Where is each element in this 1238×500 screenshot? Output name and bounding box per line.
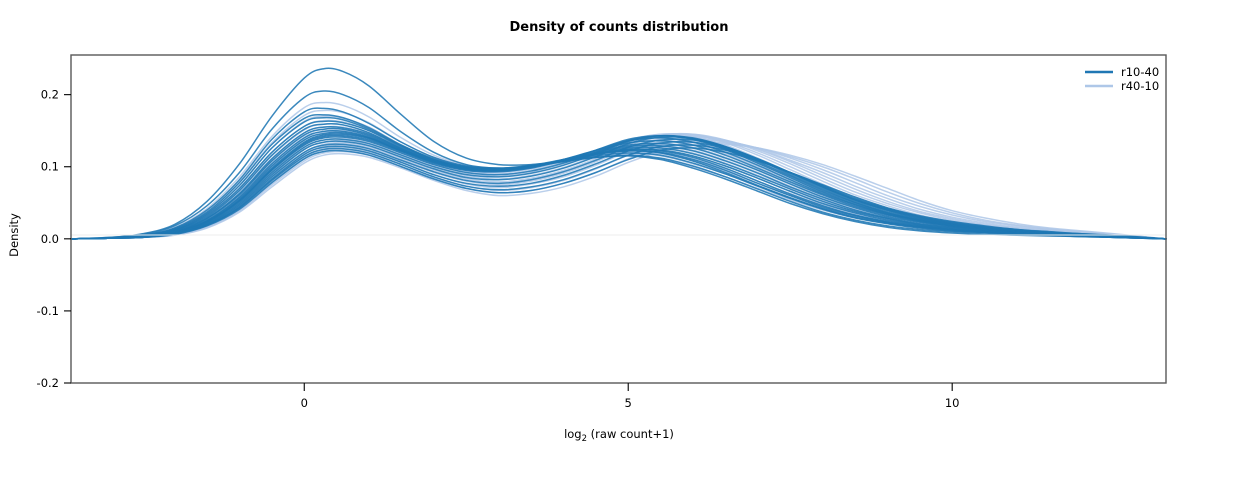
x-tick-label: 5 bbox=[625, 396, 632, 410]
y-tick-label: 0.2 bbox=[41, 88, 59, 102]
density-chart: Density of counts distribution 0.20.10.0… bbox=[0, 0, 1238, 500]
x-axis-title-base: log bbox=[564, 427, 582, 441]
y-axis-title: Density bbox=[7, 213, 21, 257]
y-tick-label: 0.1 bbox=[41, 160, 59, 174]
x-tick-label: 0 bbox=[301, 396, 308, 410]
legend-label[interactable]: r40-10 bbox=[1121, 79, 1159, 93]
x-tick-label: 10 bbox=[945, 396, 960, 410]
x-axis-title-rest: (raw count+1) bbox=[587, 427, 674, 441]
legend-label[interactable]: r10-40 bbox=[1121, 65, 1159, 79]
y-tick-label: 0.0 bbox=[41, 232, 59, 246]
chart-background bbox=[0, 0, 1238, 500]
y-tick-label: -0.2 bbox=[37, 376, 59, 390]
y-tick-label: -0.1 bbox=[37, 304, 59, 318]
chart-title: Density of counts distribution bbox=[509, 20, 728, 35]
chart-canvas: Density of counts distribution 0.20.10.0… bbox=[0, 0, 1238, 500]
